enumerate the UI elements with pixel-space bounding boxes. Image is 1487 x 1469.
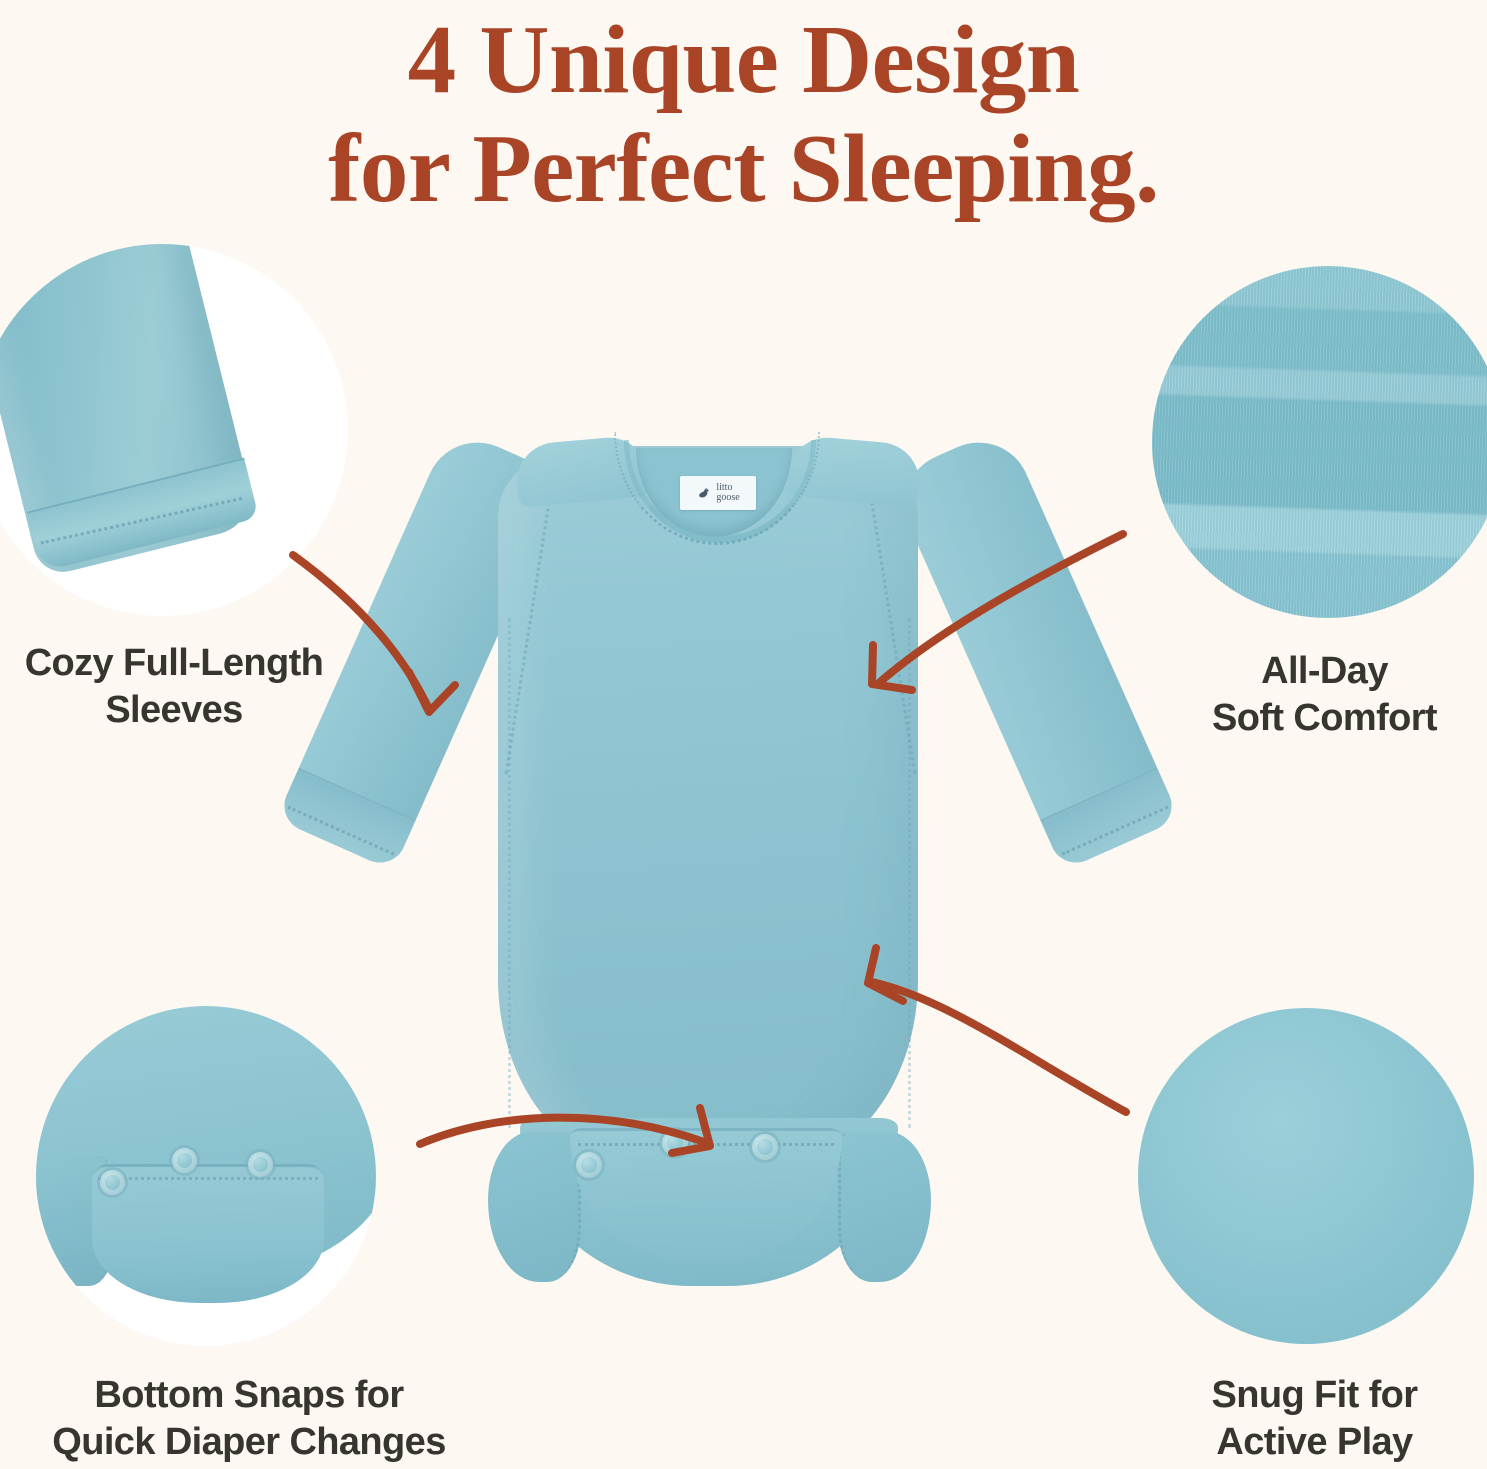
product-bodysuit: litto goose xyxy=(228,418,1264,1318)
crotch-panel xyxy=(520,1118,898,1286)
snap-button xyxy=(172,1148,197,1173)
crotch-snap-flap xyxy=(570,1128,842,1261)
snap-button xyxy=(752,1134,778,1160)
side-seam-left xyxy=(508,618,511,1128)
sleeve-right xyxy=(888,426,1180,871)
snap-button xyxy=(100,1170,125,1195)
brand-label-tag: litto goose xyxy=(680,476,756,510)
snap-button xyxy=(662,1130,688,1156)
snap-button xyxy=(576,1152,602,1178)
page-title: 4 Unique Design for Perfect Sleeping. xyxy=(0,6,1487,223)
feature-label-snug-fit: Snug Fit for Active Play xyxy=(1142,1372,1487,1466)
brand-name: litto goose xyxy=(716,483,739,503)
leg-opening-right xyxy=(838,1132,931,1282)
infographic-root: 4 Unique Design for Perfect Sleeping. xyxy=(0,0,1487,1469)
feature-label-cozy-sleeves: Cozy Full-Length Sleeves xyxy=(0,640,348,734)
goose-icon xyxy=(696,485,712,501)
sleeve-cuff-fabric xyxy=(0,244,259,578)
sleeve-left-cuff xyxy=(276,768,416,871)
leg-opening-left xyxy=(488,1132,581,1282)
feature-label-bottom-snaps: Bottom Snaps for Quick Diaper Changes xyxy=(14,1372,484,1466)
feature-label-soft-comfort: All-Day Soft Comfort xyxy=(1162,648,1487,742)
cuff-fold xyxy=(27,458,259,572)
sleeve-right-cuff xyxy=(1040,768,1180,871)
bodysuit-torso xyxy=(498,446,918,1166)
side-seam-right xyxy=(908,618,911,1128)
